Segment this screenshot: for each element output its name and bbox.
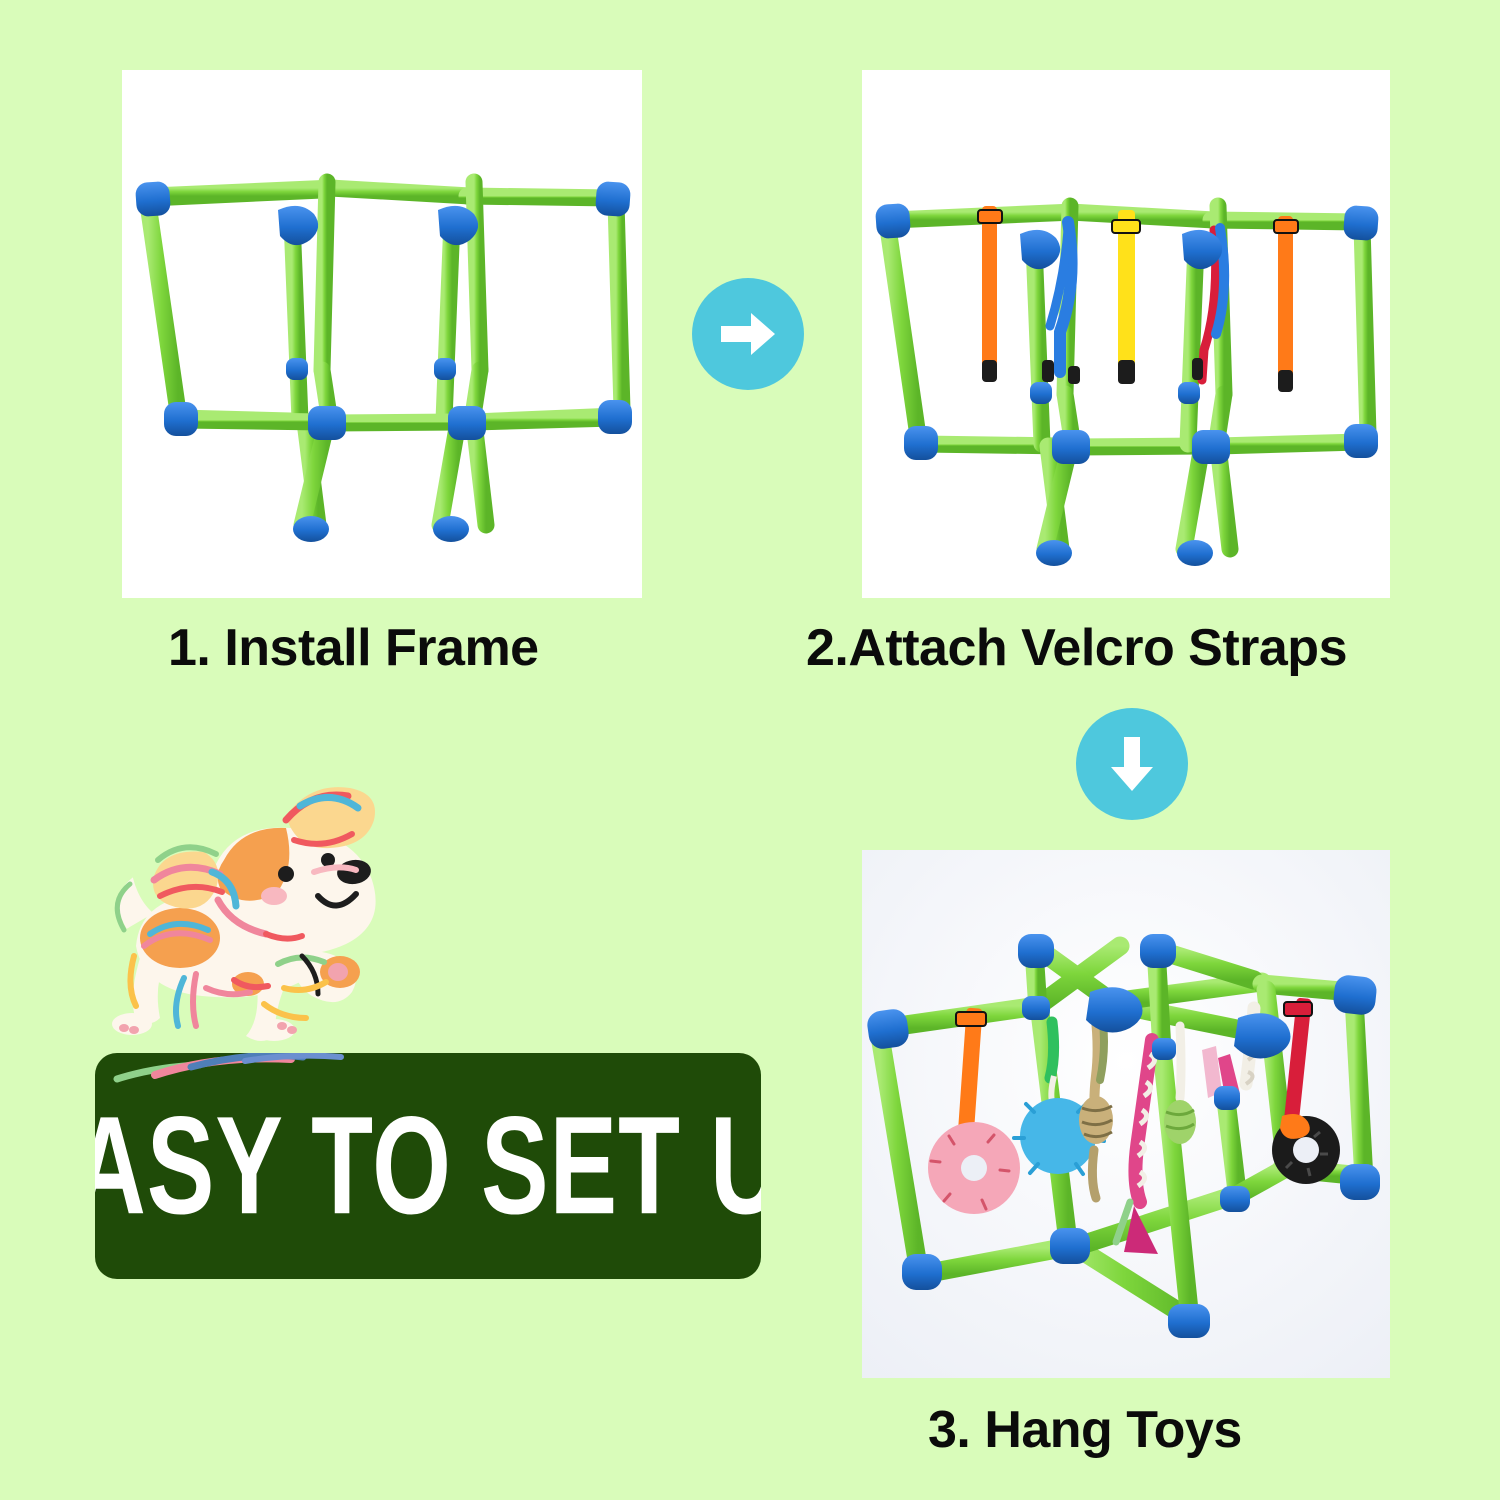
step-1-caption: 1. Install Frame xyxy=(168,618,539,678)
arrow-down-icon xyxy=(1099,731,1165,797)
frame-illustration xyxy=(122,70,642,598)
frame-connectors xyxy=(135,181,632,542)
frame-with-toys-illustration xyxy=(862,850,1390,1378)
arrow-right-icon xyxy=(715,301,781,367)
banner-accent-strokes xyxy=(95,1053,761,1093)
arrow-right-badge xyxy=(692,278,804,390)
step-2-caption: 2.Attach Velcro Straps xyxy=(806,618,1347,678)
arrow-down-badge xyxy=(1076,708,1188,820)
step-2-photo xyxy=(862,70,1390,598)
banner-text: EASY TO SET UP xyxy=(95,1096,761,1235)
running-dog-illustration xyxy=(88,768,418,1068)
easy-to-set-up-banner: EASY TO SET UP xyxy=(95,1053,761,1279)
dog-svg xyxy=(88,768,418,1068)
step-3-caption: 3. Hang Toys xyxy=(928,1400,1242,1460)
frame-with-straps-illustration xyxy=(862,70,1390,598)
step-3-photo xyxy=(862,850,1390,1378)
step-1-photo xyxy=(122,70,642,598)
